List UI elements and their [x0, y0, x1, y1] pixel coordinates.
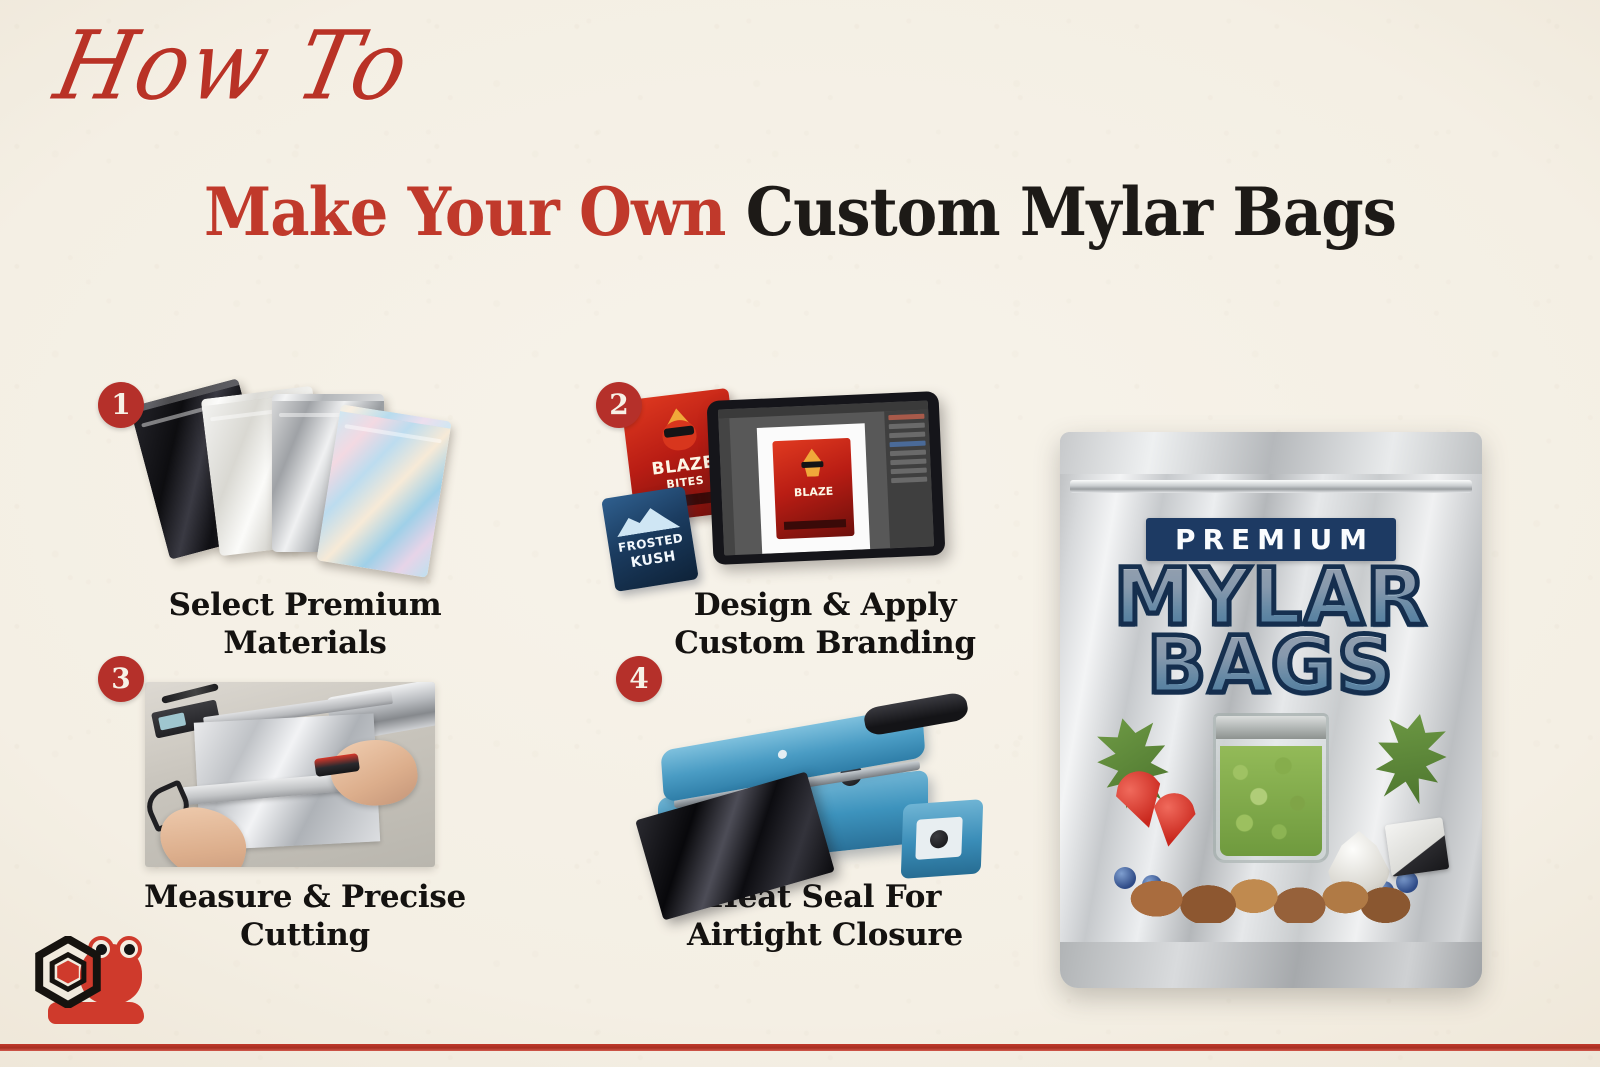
hexagon-box-icon: [32, 936, 104, 1008]
jar-lid-icon: [1213, 713, 1329, 739]
canvas-artwork-title: BLAZE: [774, 484, 852, 500]
step-number-badge-1: 1: [98, 382, 144, 428]
panel-row: [891, 477, 927, 484]
page-title-rest: Custom Mylar Bags: [746, 173, 1396, 251]
step-caption-2-line1: Design & Apply: [694, 587, 957, 623]
hero-product-mylar-bag: PREMIUM MYLAR BAGS: [1060, 432, 1482, 988]
panel-row: [891, 468, 927, 475]
panel-swatch: [889, 441, 925, 448]
hero-bag-ziplock: [1070, 480, 1472, 493]
snail-eye-right: [116, 936, 142, 962]
design-tablet: BLAZE: [707, 391, 946, 565]
step-illustration-2: BLAZE BITES FROSTED KUSH: [590, 382, 1060, 577]
page-title-accent: Make Your Own: [204, 173, 726, 251]
mason-jar-icon: [1213, 713, 1329, 863]
page-title: Make Your Own Custom Mylar Bags: [64, 178, 1536, 247]
hero-bag-bottom-gusset: [1060, 942, 1482, 988]
editor-toolbar: [718, 418, 735, 555]
sealer-screw-icon: [778, 749, 788, 759]
editor-canvas: BLAZE: [757, 423, 870, 554]
step-item-1: 1 Select Premium Materials: [70, 368, 540, 663]
step-item-2: 2 BLAZE BITES FROSTED KUSH: [590, 368, 1060, 663]
hero-bag-food-artwork: [1094, 707, 1448, 923]
mixed-nuts-icon: [1128, 859, 1414, 923]
step-caption-1: Select Premium Materials: [70, 587, 540, 663]
step-number-badge-2: 2: [596, 382, 642, 428]
steps-grid: 1 Select Premium Materials 2 BLAZE: [70, 368, 1030, 1008]
step-caption-1-line1: Select Premium: [169, 587, 442, 623]
rosemary-sprig-right-icon: [1363, 706, 1457, 816]
cutting-workbench-photo: [145, 682, 435, 867]
footer-divider: [0, 1044, 1600, 1051]
heat-sealer-photo: [630, 676, 990, 886]
sealer-timer-dial: [915, 817, 962, 860]
hero-bag-label: PREMIUM MYLAR BAGS: [1060, 518, 1482, 703]
sealer-control-box: [901, 799, 984, 879]
infographic-poster: How To Make Your Own Custom Mylar Bags 1…: [0, 0, 1600, 1067]
canvas-artwork-preview: BLAZE: [772, 438, 854, 539]
step-caption-2: Design & Apply Custom Branding: [590, 587, 1060, 663]
frosted-kush-sample-bag: FROSTED KUSH: [601, 486, 699, 592]
step-number-badge-3: 3: [98, 656, 144, 702]
hero-bag-top-fold: [1060, 432, 1482, 474]
snail-box-logo: [26, 918, 146, 1028]
holographic-mylar-bag-icon: [316, 404, 451, 578]
step-caption-3-line2: Cutting: [240, 917, 370, 953]
panel-row: [889, 423, 925, 430]
step-number-badge-4: 4: [616, 656, 662, 702]
panel-row: [889, 432, 925, 439]
jar-herb-contents: [1220, 746, 1322, 856]
canvas-artwork-strip: [784, 519, 846, 530]
panel-swatch: [888, 414, 924, 421]
editor-panels: [884, 409, 934, 548]
step-item-4: 4 Heat Seal For: [590, 656, 1060, 955]
eyebrow-how-to: How To: [48, 18, 418, 113]
step-caption-3-line1: Measure & Precise: [144, 879, 466, 915]
step-caption-4-line2: Airtight Closure: [687, 917, 963, 953]
mini-pouch-icon: [1385, 817, 1450, 877]
panel-row: [890, 450, 926, 457]
panel-row: [890, 459, 926, 466]
step-illustration-3: [70, 670, 540, 865]
step-illustration-4: [590, 670, 1060, 865]
tablet-screen: BLAZE: [718, 400, 934, 555]
step-item-3: 3 Measure & Precise Cutting: [70, 656, 540, 955]
canvas-sunglasses-icon: [801, 461, 823, 468]
